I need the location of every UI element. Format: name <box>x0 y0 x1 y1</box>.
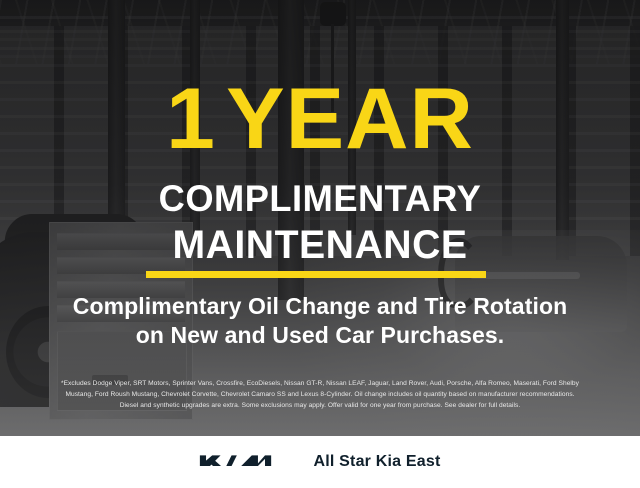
headline-maintenance: MAINTENANCE <box>6 225 633 265</box>
footer-bar: All Star Kia East <box>0 436 640 488</box>
headline-year: 1YEAR <box>0 76 640 162</box>
hero-section: 1YEAR COMPLIMENTARY MAINTENANCE Complime… <box>0 0 640 436</box>
offer-line-2: on New and Used Car Purchases. <box>24 321 616 350</box>
promotional-banner: 1YEAR COMPLIMENTARY MAINTENANCE Complime… <box>0 0 640 488</box>
disclaimer-line-3: Diesel and synthetic upgrades are extra.… <box>14 400 626 411</box>
kia-logo-icon[interactable] <box>199 451 287 473</box>
disclaimer-line-1: *Excludes Dodge Viper, SRT Motors, Sprin… <box>14 378 626 389</box>
headline-complimentary: COMPLIMENTARY <box>6 180 633 217</box>
disclaimer-text: *Excludes Dodge Viper, SRT Motors, Sprin… <box>14 378 626 412</box>
yellow-divider-rule <box>146 271 486 278</box>
headline-year-number: 1 <box>166 71 216 167</box>
offer-line-1: Complimentary Oil Change and Tire Rotati… <box>24 292 616 321</box>
dealer-name: All Star Kia East <box>313 453 440 471</box>
disclaimer-line-2: Mustang, Ford Roush Mustang, Chevrolet C… <box>14 389 626 400</box>
banner-content: 1YEAR COMPLIMENTARY MAINTENANCE Complime… <box>0 0 640 436</box>
headline-year-word: YEAR <box>226 71 474 167</box>
offer-description: Complimentary Oil Change and Tire Rotati… <box>24 292 616 350</box>
